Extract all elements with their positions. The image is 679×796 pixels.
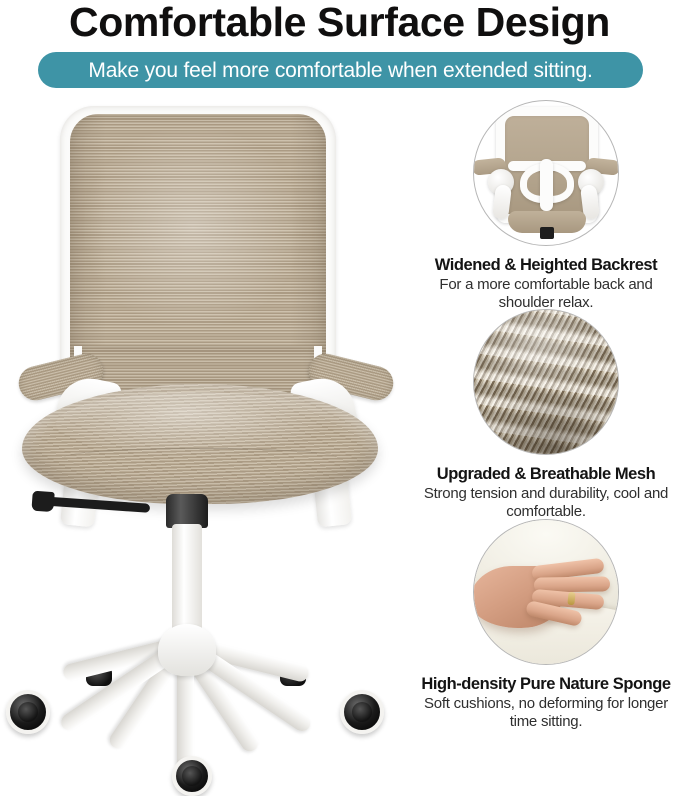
finger-ring	[567, 592, 575, 606]
feature-title: High-density Pure Nature Sponge	[413, 675, 679, 694]
feature-description: Strong tension and durability, cool and …	[413, 485, 679, 520]
feature-title: Upgraded & Breathable Mesh	[413, 465, 679, 484]
gas-cylinder-collar	[166, 494, 208, 528]
caster-wheel	[172, 756, 212, 796]
chair-backrest-rear-photo-icon	[473, 100, 619, 246]
feature-item-backrest: Widened & Heighted Backrest For a more c…	[413, 100, 679, 311]
subtitle-banner: Make you feel more comfortable when exte…	[38, 52, 643, 88]
feature-item-sponge: High-density Pure Nature Sponge Soft cus…	[413, 519, 679, 730]
product-hero-image	[0, 96, 412, 726]
feature-title: Widened & Heighted Backrest	[413, 256, 679, 275]
mesh-shading-overlay	[474, 310, 618, 454]
backrest-center-spine	[540, 159, 553, 211]
cylinder-stem	[540, 227, 554, 239]
mesh-fabric-macro-photo-icon	[473, 309, 619, 455]
feature-item-mesh: Upgraded & Breathable Mesh Strong tensio…	[413, 309, 679, 520]
caster-wheel	[340, 690, 384, 734]
feature-list: Widened & Heighted Backrest For a more c…	[413, 100, 679, 726]
chair-seat-cushion	[22, 384, 378, 504]
feature-description: Soft cushions, no deforming for longer t…	[413, 695, 679, 730]
hand-pressing-foam-photo-icon	[473, 519, 619, 665]
feature-description: For a more comfortable back and shoulder…	[413, 276, 679, 311]
base-center-hub	[158, 624, 216, 676]
caster-wheel	[6, 690, 50, 734]
subtitle-banner-text: Make you feel more comfortable when exte…	[88, 60, 592, 81]
page-title: Comfortable Surface Design	[0, 0, 679, 46]
